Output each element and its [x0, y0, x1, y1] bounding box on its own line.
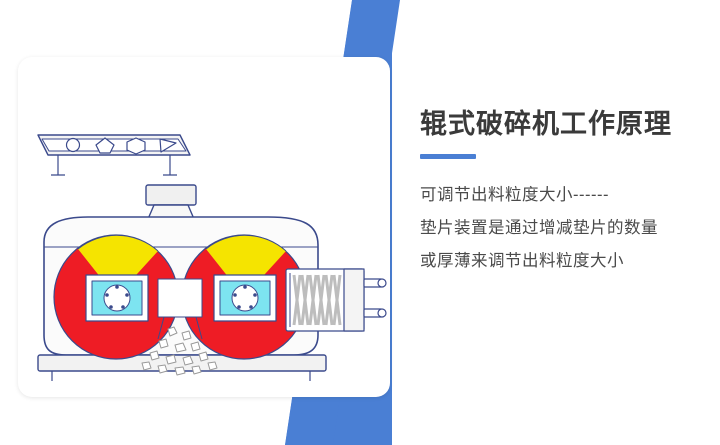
title-divider	[420, 154, 476, 159]
feed-hopper	[38, 135, 190, 155]
description-line-2: 垫片装置是通过增减垫片的数量	[420, 212, 705, 245]
double-roll-crusher-schematic	[18, 57, 390, 397]
shim-spring-assembly	[286, 269, 364, 331]
left-bearing-block	[86, 275, 148, 321]
screenshot-root: 辊式破碎机工作原理 可调节出料粒度大小------ 垫片装置是通过增减垫片的数量…	[0, 0, 720, 445]
text-panel: 辊式破碎机工作原理 可调节出料粒度大小------ 垫片装置是通过增减垫片的数量…	[420, 108, 705, 278]
adjustment-bolts	[364, 279, 386, 317]
hopper-supports	[51, 155, 177, 175]
description-paragraph: 可调节出料粒度大小------ 垫片装置是通过增减垫片的数量 或厚薄来调节出料粒…	[420, 179, 705, 278]
description-line-3: 或厚薄来调节出料粒度大小	[420, 245, 705, 278]
right-bearing-block	[214, 275, 276, 321]
feed-chute	[146, 185, 196, 219]
page-title: 辊式破碎机工作原理	[420, 108, 705, 140]
description-line-1: 可调节出料粒度大小------	[420, 179, 705, 212]
